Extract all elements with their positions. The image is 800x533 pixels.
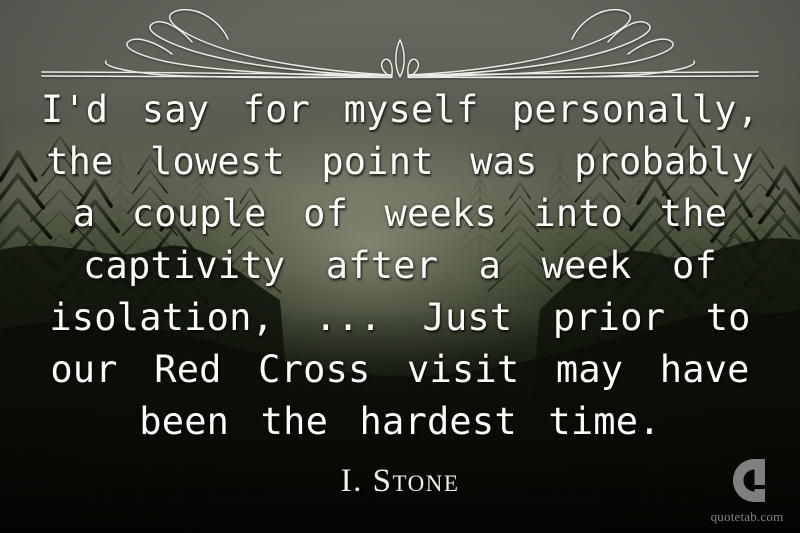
quote-author: I. Stone	[0, 463, 800, 500]
quote-line: been the hardest time.	[34, 396, 766, 448]
quote-card: I'd say for myself personally, the lowes…	[0, 0, 800, 533]
watermark-site-label: quotetab.com	[711, 509, 784, 525]
quotetab-logo-icon	[721, 455, 773, 507]
quote-text: I'd say for myself personally, the lowes…	[34, 84, 766, 448]
quote-line: our Red Cross visit may have	[34, 344, 766, 396]
quote-line: the lowest point was probably	[34, 136, 766, 188]
quote-line: a couple of weeks into the	[34, 188, 766, 240]
quote-line: I'd say for myself personally,	[34, 84, 766, 136]
quote-line: isolation, ... Just prior to	[34, 292, 766, 344]
site-watermark[interactable]: quotetab.com	[704, 455, 790, 525]
quote-line: captivity after a week of	[34, 240, 766, 292]
